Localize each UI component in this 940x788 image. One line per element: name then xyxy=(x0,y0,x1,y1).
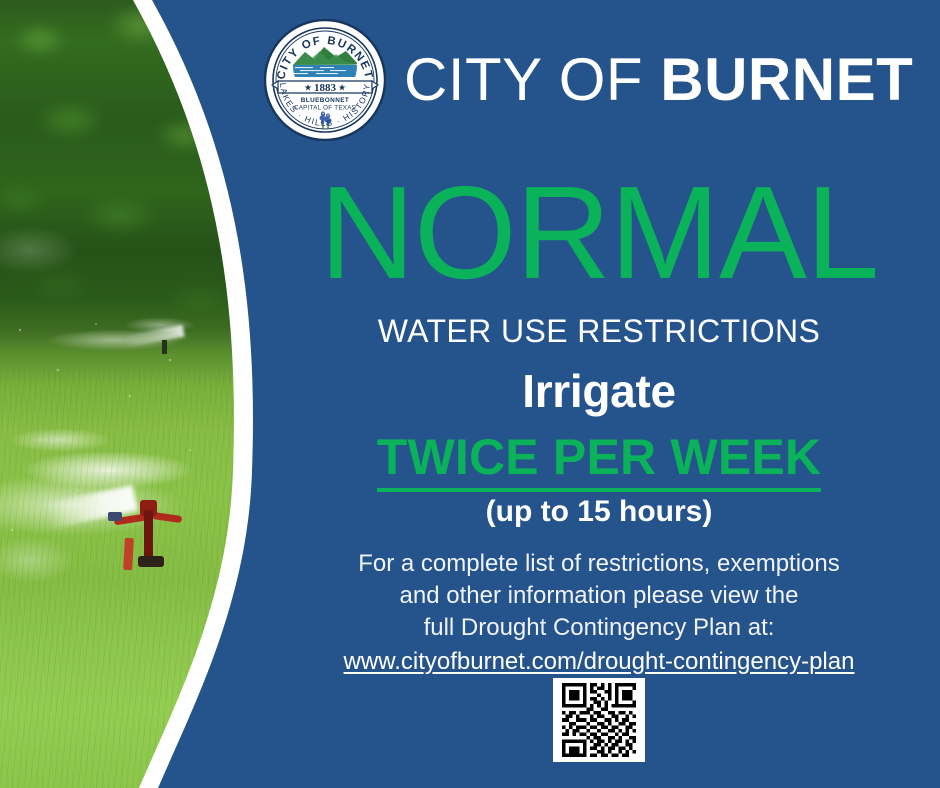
drought-status: NORMAL xyxy=(258,172,940,293)
info-line-1: For a complete list of restrictions, exe… xyxy=(258,548,940,580)
seal-motto-line1: BLUEBONNET xyxy=(301,97,349,104)
qr-code-wrap xyxy=(258,678,940,762)
irrigation-frequency-text: TWICE PER WEEK xyxy=(377,429,821,492)
brand-title: CITY OF BURNET xyxy=(404,50,913,110)
svg-text:★: ★ xyxy=(304,83,312,93)
qr-code-icon[interactable] xyxy=(553,678,645,762)
info-paragraph: For a complete list of restrictions, exe… xyxy=(258,548,940,678)
subheading: WATER USE RESTRICTIONS xyxy=(258,313,940,350)
seal-motto-line2: CAPITAL OF TEXAS xyxy=(294,105,356,112)
content-column: 1883 ★ ★ BLUEBONNET CAPITAL OF TEXAS xyxy=(258,0,940,788)
header: 1883 ★ ★ BLUEBONNET CAPITAL OF TEXAS xyxy=(264,14,934,146)
city-seal-icon: 1883 ★ ★ BLUEBONNET CAPITAL OF TEXAS xyxy=(264,19,386,141)
brand-light-text: CITY OF xyxy=(404,46,643,113)
irrigation-duration: (up to 15 hours) xyxy=(258,495,940,529)
drought-plan-link[interactable]: www.cityofburnet.com/drought-contingency… xyxy=(344,646,855,678)
action-verb: Irrigate xyxy=(258,364,940,418)
info-line-3: full Drought Contingency Plan at: xyxy=(258,612,940,644)
seal-year: 1883 xyxy=(314,82,337,94)
irrigation-frequency: TWICE PER WEEK xyxy=(258,428,940,486)
info-line-2: and other information please view the xyxy=(258,580,940,612)
svg-text:★: ★ xyxy=(338,83,346,93)
brand-bold-text: BURNET xyxy=(660,46,913,113)
poster: 1883 ★ ★ BLUEBONNET CAPITAL OF TEXAS xyxy=(0,0,940,788)
